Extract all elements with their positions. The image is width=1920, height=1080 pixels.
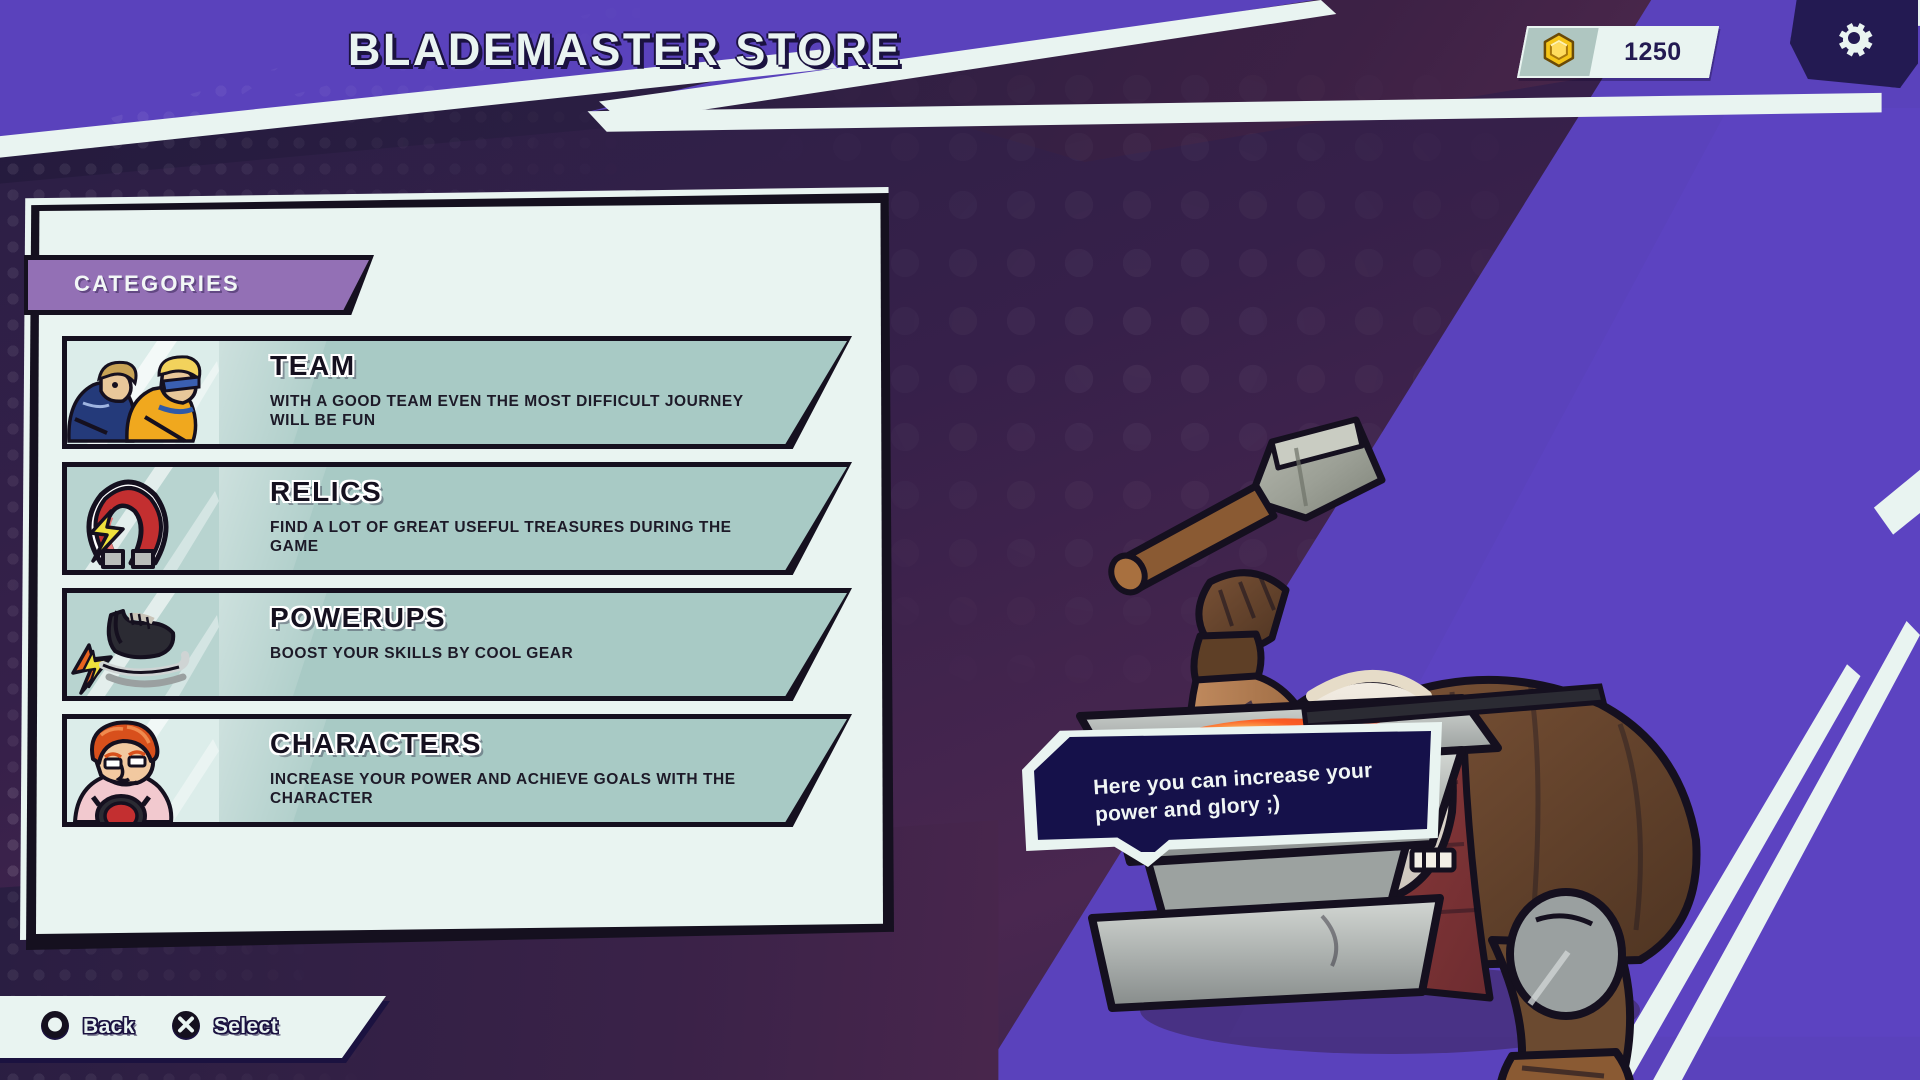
speech-bubble: Here you can increase your power and glo…: [1022, 722, 1442, 867]
control-hint-select[interactable]: Select: [169, 1008, 278, 1047]
category-title: TEAM: [270, 350, 782, 382]
magnet-thumb: [67, 467, 219, 570]
category-text: POWERUPS BOOST YOUR SKILLS BY COOL GEAR: [270, 602, 782, 664]
category-text: CHARACTERS INCREASE YOUR POWER AND ACHIE…: [270, 728, 782, 809]
category-title: POWERUPS: [270, 602, 782, 634]
categories-heading: CATEGORIES: [74, 271, 240, 297]
gear-icon: [1829, 0, 1879, 67]
page-title: BLADEMASTER STORE: [0, 24, 1250, 76]
hockey-players-thumb: [67, 341, 219, 444]
category-row-characters[interactable]: CHARACTERS INCREASE YOUR POWER AND ACHIE…: [62, 714, 852, 827]
category-text: TEAM WITH A GOOD TEAM EVEN THE MOST DIFF…: [270, 350, 782, 431]
red-haired-character-thumb: [67, 719, 219, 822]
category-row-powerups[interactable]: POWERUPS BOOST YOUR SKILLS BY COOL GEAR: [62, 588, 852, 701]
cross-button-icon: [169, 1008, 203, 1047]
currency-value: 1250: [1594, 38, 1712, 67]
circle-button-icon: [38, 1008, 72, 1047]
control-hint-label: Select: [214, 1015, 278, 1039]
category-title: CHARACTERS: [270, 728, 782, 760]
category-row-team[interactable]: TEAM WITH A GOOD TEAM EVEN THE MOST DIFF…: [62, 336, 852, 449]
category-description: BOOST YOUR SKILLS BY COOL GEAR: [270, 645, 782, 664]
blacksmith-scene: [1060, 320, 1760, 1080]
category-description: WITH A GOOD TEAM EVEN THE MOST DIFFICULT…: [270, 393, 782, 431]
category-text: RELICS FIND A LOT OF GREAT USEFUL TREASU…: [270, 476, 782, 557]
control-hint-label: Back: [83, 1015, 135, 1039]
settings-button[interactable]: [1790, 0, 1918, 88]
flaming-skate-thumb: [67, 593, 219, 696]
category-description: INCREASE YOUR POWER AND ACHIEVE GOALS WI…: [270, 771, 782, 809]
control-hints-bar: Back Select: [0, 996, 386, 1058]
category-row-relics[interactable]: RELICS FIND A LOT OF GREAT USEFUL TREASU…: [62, 462, 852, 575]
categories-ribbon: CATEGORIES: [24, 255, 374, 315]
category-title: RELICS: [270, 476, 782, 508]
currency-badge: 1250: [1517, 26, 1719, 78]
gem-icon: [1542, 32, 1576, 73]
category-description: FIND A LOT OF GREAT USEFUL TREASURES DUR…: [270, 519, 782, 557]
categories-panel: CATEGORIES: [26, 193, 894, 950]
control-hint-back[interactable]: Back: [38, 1008, 135, 1047]
header: BLADEMASTER STORE 1250: [0, 0, 1920, 110]
category-list: TEAM WITH A GOOD TEAM EVEN THE MOST DIFF…: [62, 336, 852, 840]
currency-icon-container: [1519, 28, 1598, 76]
